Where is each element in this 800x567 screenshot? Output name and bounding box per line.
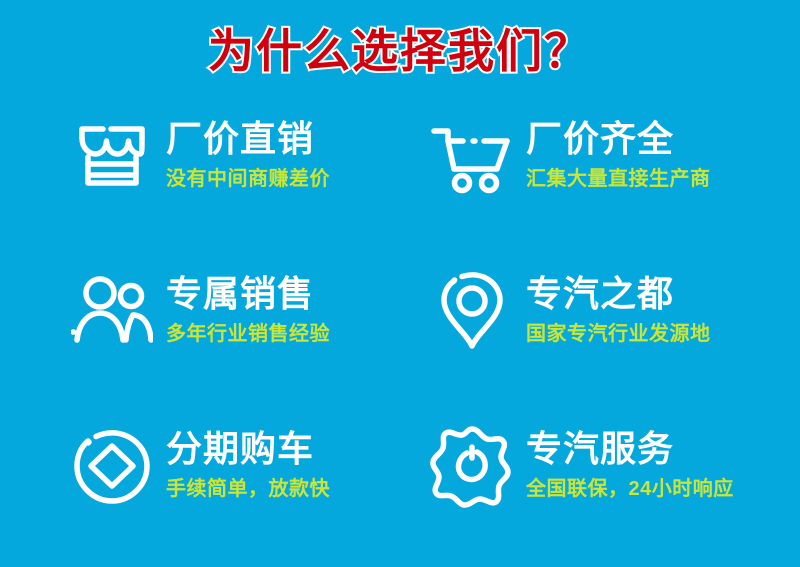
feature-text: 专汽之都 国家专汽行业发源地 (526, 263, 711, 347)
feature-item-service: 专汽服务 全国联保，24小时响应 (400, 418, 800, 548)
coin-diamond-icon (66, 420, 158, 512)
feature-subtitle: 汇集大量直接生产商 (526, 166, 711, 192)
feature-text: 厂价直销 没有中间商赚差价 (166, 108, 330, 192)
feature-item-installment: 分期购车 手续简单，放款快 (0, 418, 400, 548)
feature-title: 厂价齐全 (526, 118, 711, 160)
feature-text: 分期购车 手续简单，放款快 (166, 418, 330, 502)
shopping-cart-icon (426, 110, 518, 202)
feature-text: 专属销售 多年行业销售经验 (166, 263, 330, 347)
feature-text: 专汽服务 全国联保，24小时响应 (526, 418, 734, 502)
feature-item-dedicated-sales: 专属销售 多年行业销售经验 (0, 263, 400, 418)
promo-poster: 为什么选择我们？ 厂价直销 没有中间商赚差价 (0, 0, 800, 567)
feature-item-auto-capital: 专汽之都 国家专汽行业发源地 (400, 263, 800, 418)
feature-subtitle: 国家专汽行业发源地 (526, 321, 711, 347)
feature-subtitle: 多年行业销售经验 (166, 321, 330, 347)
page-title-wrapper: 为什么选择我们？ (0, 20, 800, 82)
feature-item-factory-direct: 厂价直销 没有中间商赚差价 (0, 108, 400, 263)
storefront-icon (66, 110, 158, 202)
feature-subtitle: 手续简单，放款快 (166, 476, 330, 502)
feature-title: 厂价直销 (166, 118, 330, 160)
feature-subtitle: 全国联保，24小时响应 (526, 476, 734, 502)
map-pin-icon (426, 265, 518, 357)
gear-icon (426, 420, 518, 512)
feature-title: 专属销售 (166, 273, 330, 315)
feature-grid: 厂价直销 没有中间商赚差价 厂价齐全 汇集大量直接生产商 (0, 108, 800, 548)
page-title: 为什么选择我们？ (208, 20, 592, 82)
feature-title: 专汽服务 (526, 428, 734, 470)
feature-title: 专汽之都 (526, 273, 711, 315)
feature-title: 分期购车 (166, 428, 330, 470)
two-people-icon (66, 265, 158, 357)
feature-text: 厂价齐全 汇集大量直接生产商 (526, 108, 711, 192)
feature-subtitle: 没有中间商赚差价 (166, 166, 330, 192)
feature-item-full-range: 厂价齐全 汇集大量直接生产商 (400, 108, 800, 263)
